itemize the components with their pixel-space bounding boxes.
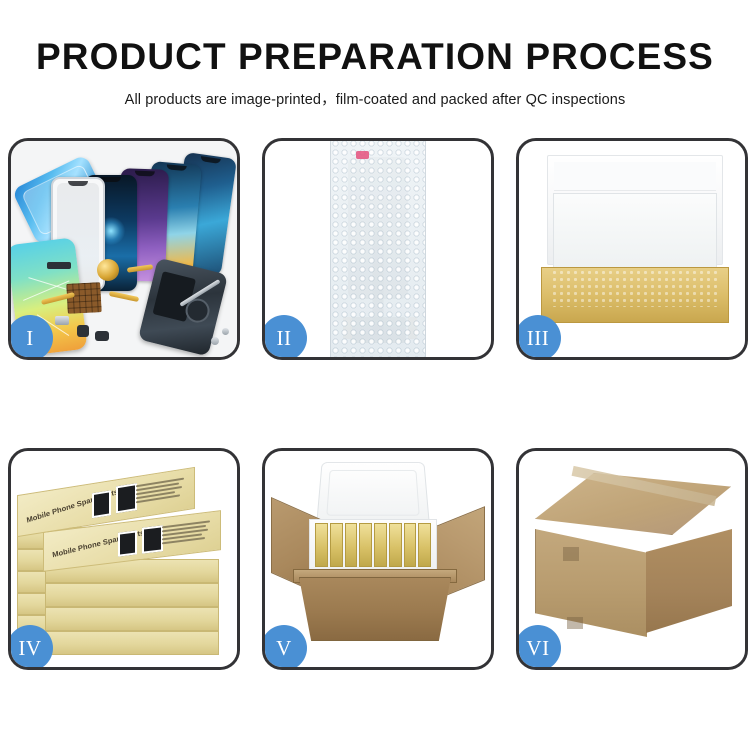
header: PRODUCT PREPARATION PROCESS All products… (0, 0, 750, 109)
small-part-camera (77, 325, 89, 337)
process-step-panel-3: III (516, 138, 748, 360)
bubble-wrapped-contents (551, 269, 719, 307)
step-badge-3: III (516, 315, 561, 360)
kraft-box-spec-lines-1 (136, 478, 184, 506)
kraft-box-stack-right-4 (45, 607, 219, 631)
carton-body (299, 577, 451, 641)
small-part-bracket (55, 316, 69, 325)
kraft-box-stack-right-3 (45, 583, 219, 607)
kraft-boxes-inside-foam (315, 523, 431, 567)
carton-seam-upper (563, 547, 579, 561)
chip-grid-component (66, 282, 102, 314)
small-part-screw-set (211, 337, 219, 345)
product-preparation-infographic: PRODUCT PREPARATION PROCESS All products… (0, 0, 750, 750)
process-step-panel-4: Mobile Phone Spare Parts Mobile Phone Sp… (8, 448, 240, 670)
pink-label-tab (356, 151, 369, 159)
wireless-charging-coil (97, 259, 119, 281)
process-step-panel-2: II (262, 138, 494, 360)
small-part-screw-set-2 (222, 328, 229, 335)
page-subtitle: All products are image-printed，film-coat… (0, 88, 750, 109)
kraft-box-stack-right-5 (45, 631, 219, 655)
step-badge-4: IV (8, 625, 53, 670)
step-badge-2: II (262, 315, 307, 360)
kraft-box-thumbnail-2a (118, 530, 137, 556)
kraft-box-spec-lines-2 (162, 520, 210, 546)
process-step-panel-6: VI (516, 448, 748, 670)
kraft-box-thumbnail-1b (116, 483, 137, 513)
small-part-speaker (47, 262, 71, 269)
process-step-panel-5: V (262, 448, 494, 670)
process-steps-grid: I II (8, 138, 742, 670)
step-badge-6: VI (516, 625, 561, 670)
carton-seam-lower (567, 617, 583, 629)
kraft-box-thumbnail-1a (92, 490, 111, 518)
foam-box-lid (316, 462, 430, 525)
foam-sheet (553, 193, 717, 271)
kraft-box-thumbnail-2b (142, 525, 163, 554)
bubble-wrap-bag (330, 141, 426, 357)
small-part-vibrator (95, 331, 109, 341)
process-step-panel-1: I (8, 138, 240, 360)
step-badge-1: I (8, 315, 53, 360)
page-title: PRODUCT PREPARATION PROCESS (0, 36, 750, 78)
step-badge-5: V (262, 625, 307, 670)
